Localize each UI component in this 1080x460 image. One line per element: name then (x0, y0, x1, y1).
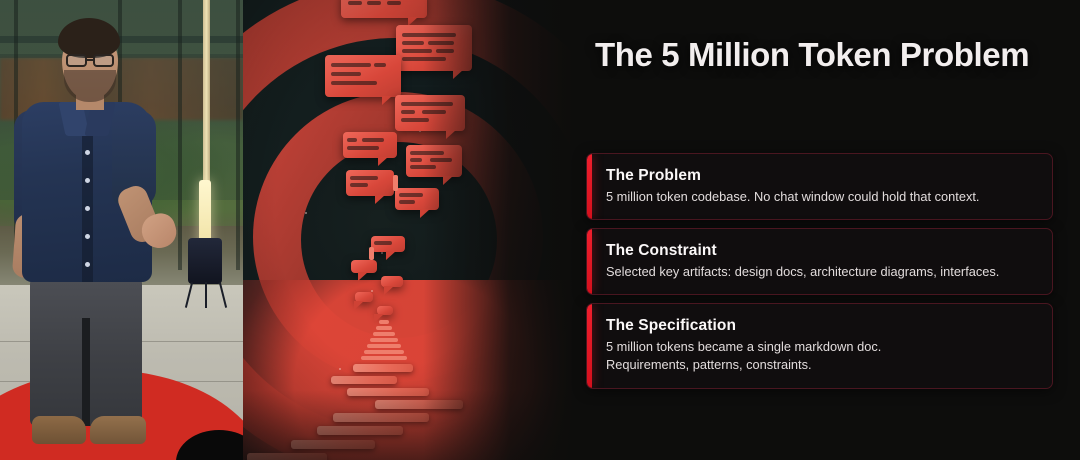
card-heading: The Problem (606, 167, 1036, 185)
window-mullion (236, 0, 240, 270)
shirt-button (85, 150, 90, 155)
speaker-shoe-left (32, 416, 86, 444)
vortex-graphic (243, 0, 573, 460)
slide-title: The 5 Million Token Problem (595, 36, 1065, 74)
card-the-problem[interactable]: The Problem 5 million token codebase. No… (586, 153, 1053, 220)
shirt-button (85, 262, 90, 267)
eyeglasses-lens-left (66, 54, 87, 67)
card-body-line: 5 million tokens became a single markdow… (606, 338, 1036, 356)
speaker-shoe-right (90, 416, 146, 444)
stage-light-housing (188, 238, 222, 284)
card-heading: The Specification (606, 317, 1036, 335)
right-fade (423, 0, 573, 460)
card-body-line: Selected key artifacts: design docs, arc… (606, 263, 1036, 281)
eyeglasses-lens-right (93, 54, 114, 67)
card-the-constraint[interactable]: The Constraint Selected key artifacts: d… (586, 228, 1053, 295)
speaker-figure (8, 18, 178, 460)
speaker-hair (58, 18, 120, 58)
shirt-button (85, 234, 90, 239)
light-tripod (186, 282, 226, 308)
leg-gap (82, 318, 90, 426)
eyeglasses-bridge (87, 59, 95, 61)
shirt-button (85, 206, 90, 211)
speaker-photo (0, 0, 243, 460)
speaker-beard (64, 70, 116, 102)
window-mullion (178, 0, 182, 270)
card-heading: The Constraint (606, 242, 1036, 260)
card-body-line: Requirements, patterns, constraints. (606, 356, 1036, 374)
shirt-button (85, 178, 90, 183)
card-the-specification[interactable]: The Specification 5 million tokens becam… (586, 303, 1053, 388)
content-panel: The 5 Million Token Problem The Problem … (573, 0, 1080, 460)
card-list: The Problem 5 million token codebase. No… (586, 153, 1053, 397)
slide-frame: The 5 Million Token Problem The Problem … (0, 0, 1080, 460)
card-body-line: 5 million token codebase. No chat window… (606, 188, 1036, 206)
